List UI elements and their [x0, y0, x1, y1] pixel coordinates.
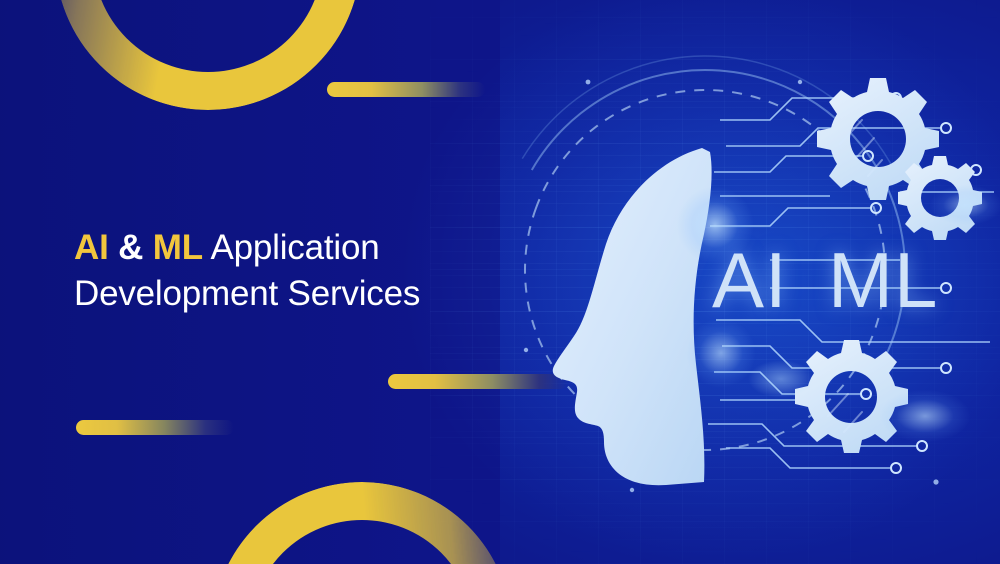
decorative-bar-bottom: [76, 420, 234, 435]
graphic-label-ai: AI: [712, 235, 788, 326]
headline-accent-ai: AI: [74, 228, 109, 267]
headline-line-1-rest: Application: [210, 228, 379, 267]
headline-line-2: Development Services: [74, 271, 504, 317]
page-title: AI & ML Application Development Services: [74, 225, 504, 316]
headline-accent-ml: ML: [153, 228, 203, 267]
human-head-profile-icon: [553, 148, 712, 485]
gear-icon-small: [898, 156, 982, 240]
gear-icon-bottom: [795, 340, 908, 453]
graphic-label-ml: ML: [828, 235, 938, 326]
headline-line-1: AI & ML Application: [74, 225, 504, 271]
decorative-bar-top: [327, 82, 485, 97]
ai-ml-banner: AI & ML Application Development Services: [0, 0, 1000, 564]
headline-ampersand: &: [118, 228, 143, 267]
